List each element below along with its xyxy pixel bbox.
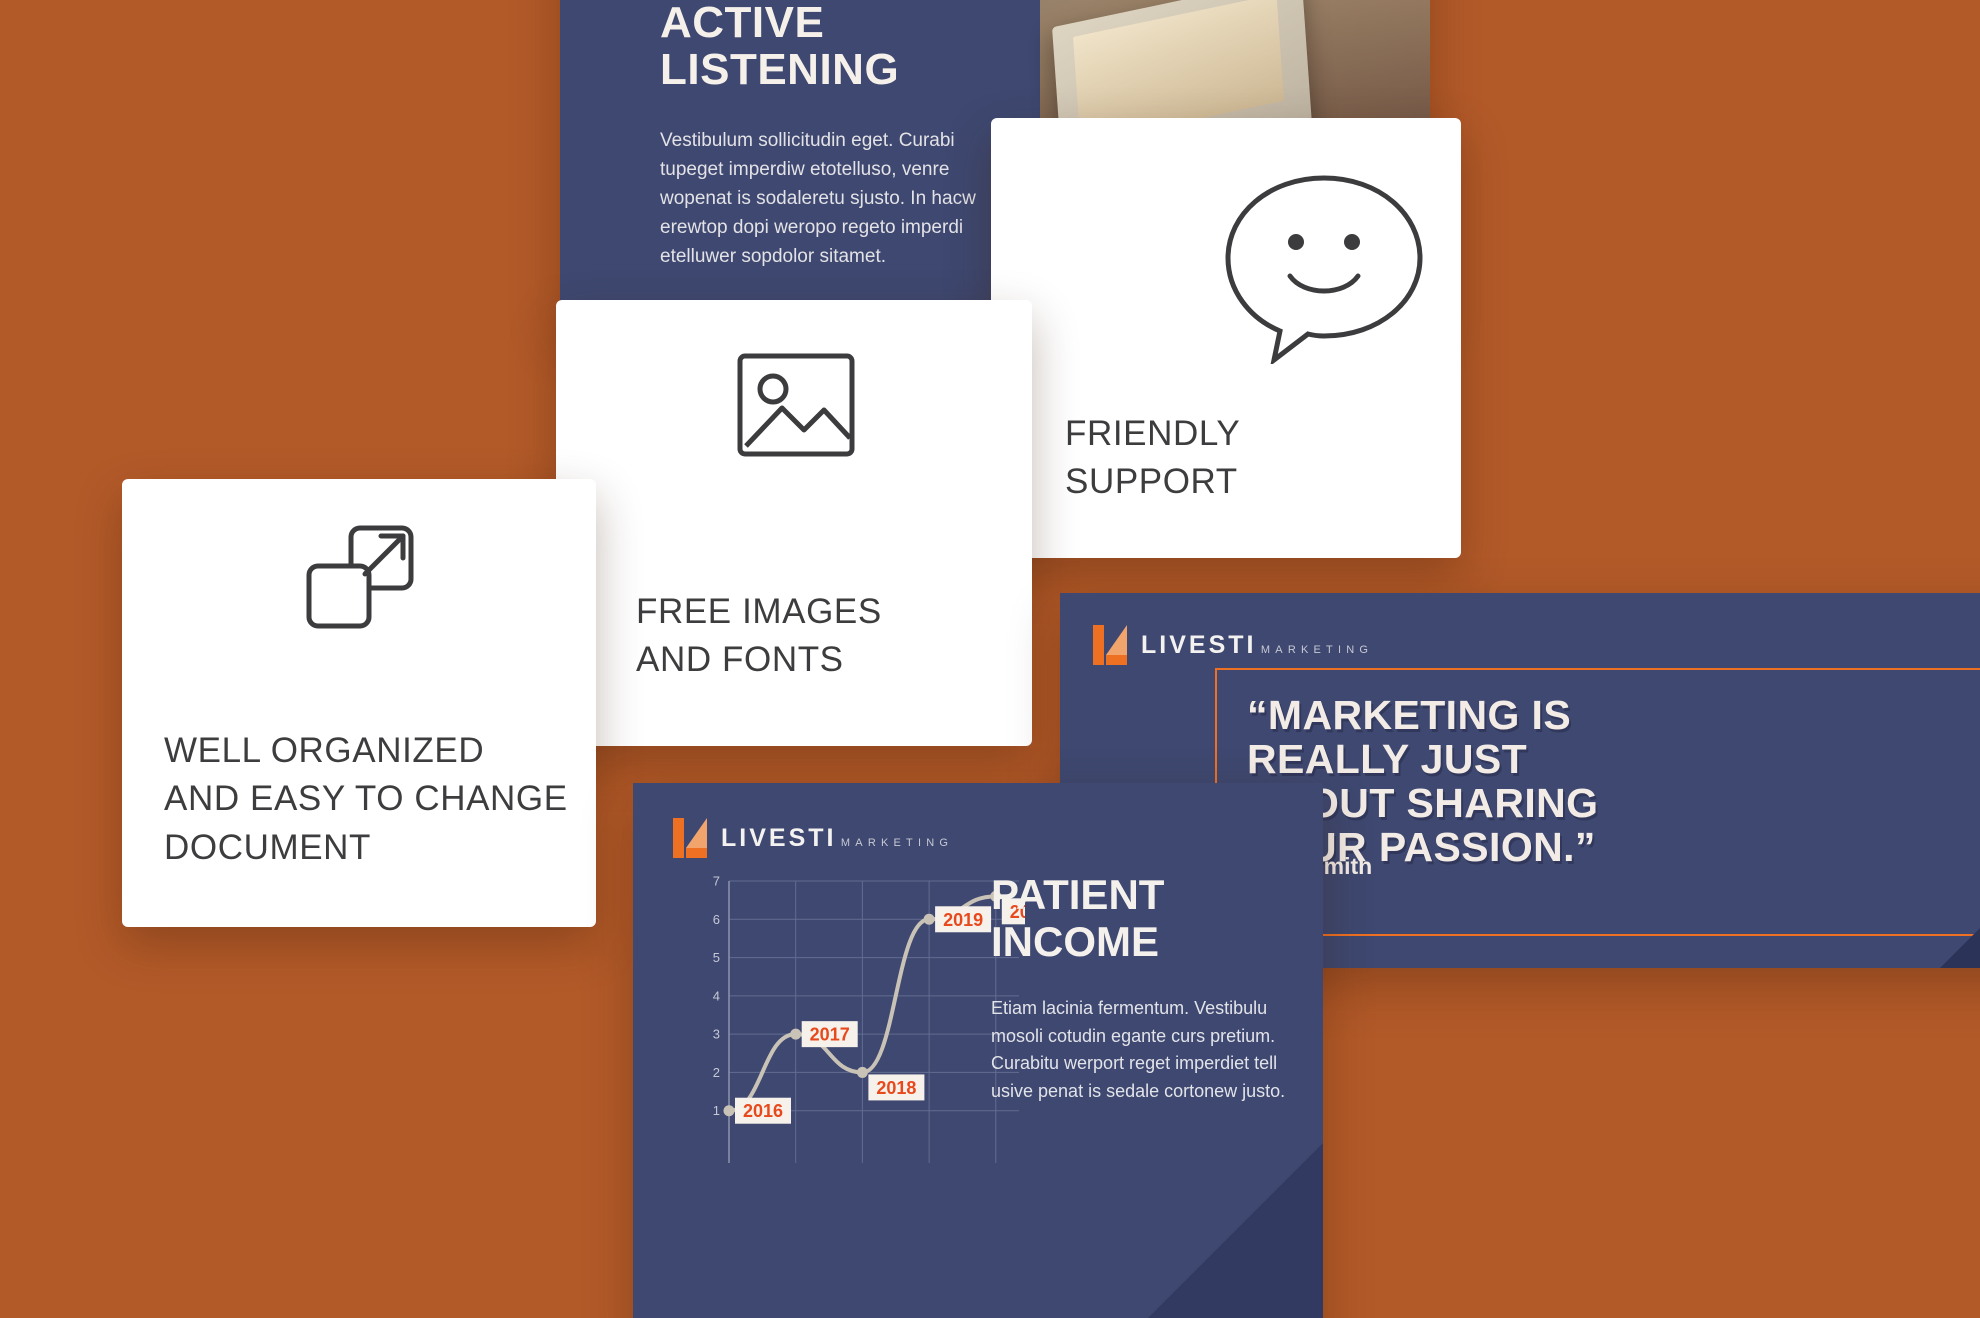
livesti-logo-mark-icon (673, 818, 707, 858)
card-well-organized[interactable]: WELL ORGANIZED AND EASY TO CHANGE DOCUME… (122, 479, 596, 927)
chart-body-text: Etiam lacinia fermentum. Vestibulu mosol… (991, 995, 1321, 1106)
card-free-images-fonts[interactable]: FREE IMAGES AND FONTS (556, 300, 1032, 746)
svg-text:2016: 2016 (743, 1101, 783, 1121)
quote-frame: “MARKETING IS REALLY JUST ABOUT SHARING … (1215, 668, 1980, 936)
chart-heading: PATIENT INCOME (991, 871, 1164, 965)
corner-accent (1123, 1143, 1323, 1318)
livesti-logo-mark-icon (1093, 625, 1127, 665)
slide-collage-canvas: ACTIVE LISTENING Vestibulum sollicitudin… (0, 0, 1980, 1318)
smiley-speech-bubble-icon (1216, 164, 1432, 369)
organized-line-1: WELL ORGANIZED (164, 727, 568, 775)
slide-patient-income[interactable]: LIVESTI MARKETING 1234567201620172018201… (633, 783, 1323, 1318)
organized-line-3: DOCUMENT (164, 824, 568, 872)
svg-text:2019: 2019 (943, 910, 983, 930)
logo-name: LIVESTI (721, 824, 836, 852)
svg-text:3: 3 (713, 1027, 720, 1042)
support-labels: FRIENDLY SUPPORT (1065, 410, 1240, 507)
images-line-2: AND FONTS (636, 636, 882, 684)
livesti-logo: LIVESTI MARKETING (673, 818, 953, 858)
listening-copy: ACTIVE LISTENING Vestibulum sollicitudin… (660, 0, 980, 272)
livesti-logo: LIVESTI MARKETING (1093, 625, 1373, 665)
picture-icon (736, 350, 856, 465)
organized-labels: WELL ORGANIZED AND EASY TO CHANGE DOCUME… (164, 727, 568, 872)
svg-text:2018: 2018 (876, 1078, 916, 1098)
svg-text:4: 4 (713, 988, 720, 1003)
support-line-2: SUPPORT (1065, 458, 1240, 506)
corner-accent (1940, 788, 1980, 968)
svg-text:6: 6 (713, 912, 720, 927)
svg-text:2017: 2017 (810, 1025, 850, 1045)
listening-title: ACTIVE LISTENING (660, 0, 980, 93)
logo-name: LIVESTI (1141, 631, 1256, 659)
svg-text:5: 5 (713, 950, 720, 965)
images-labels: FREE IMAGES AND FONTS (636, 588, 882, 685)
support-line-1: FRIENDLY (1065, 410, 1240, 458)
svg-text:7: 7 (713, 875, 720, 889)
organized-line-2: AND EASY TO CHANGE (164, 775, 568, 823)
logo-tagline: MARKETING (1261, 644, 1373, 656)
images-line-1: FREE IMAGES (636, 588, 882, 636)
logo-tagline: MARKETING (841, 837, 953, 849)
svg-text:2: 2 (713, 1065, 720, 1080)
line-chart: 123456720162017201820192020 (695, 875, 1025, 1175)
listening-body: Vestibulum sollicitudin eget. Curabi tup… (660, 127, 980, 271)
resize-arrow-icon (303, 522, 418, 637)
svg-text:1: 1 (713, 1103, 720, 1118)
card-friendly-support[interactable]: FRIENDLY SUPPORT (991, 118, 1461, 558)
